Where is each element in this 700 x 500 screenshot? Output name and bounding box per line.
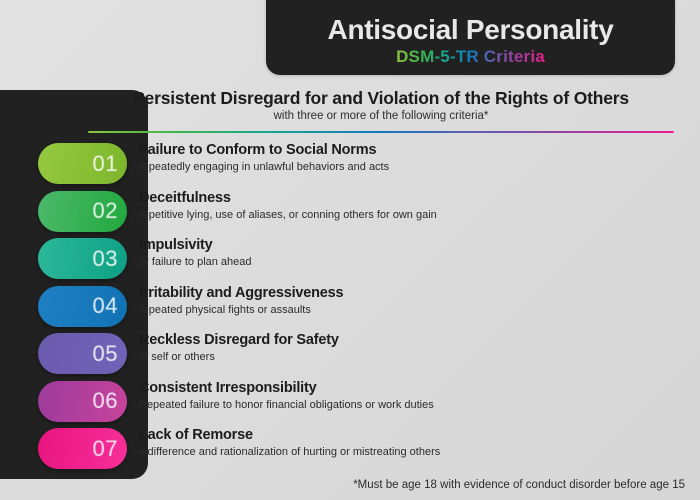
criterion-title: Failure to Conform to Social Norms (139, 141, 690, 159)
criterion-subtitle: repeatedly engaging in unlawful behavior… (139, 160, 690, 174)
criterion-number-pill: 01 (38, 143, 127, 184)
criterion-subtitle: of self or others (139, 350, 690, 364)
criterion-subtitle: or failure to plan ahead (139, 255, 690, 269)
page-title: Antisocial Personality (328, 15, 614, 44)
criterion-title: Lack of Remorse (139, 426, 690, 444)
criterion-text-block: Failure to Conform to Social Normsrepeat… (139, 141, 690, 174)
criterion-row: 06Consistent IrresponsibilityRepeated fa… (0, 379, 700, 427)
infographic-canvas: Antisocial Personality DSM-5-TR Criteria… (0, 0, 700, 500)
criterion-number-pill: 07 (38, 428, 127, 469)
criterion-number: 01 (93, 153, 118, 175)
criterion-number: 03 (93, 248, 118, 270)
criterion-number-pill: 05 (38, 333, 127, 374)
criterion-number-pill: 04 (38, 286, 127, 327)
criterion-title: Deceitfulness (139, 189, 690, 207)
criterion-subtitle: repetitive lying, use of aliases, or con… (139, 208, 690, 222)
criterion-row: 02Deceitfulnessrepetitive lying, use of … (0, 189, 700, 237)
criterion-text-block: Impulsivityor failure to plan ahead (139, 236, 690, 269)
header-subtitle: with three or more of the following crit… (88, 110, 674, 124)
criterion-number: 05 (93, 343, 118, 365)
criterion-text-block: Irritability and Aggressivenessrepeated … (139, 284, 690, 317)
criterion-text-block: Consistent IrresponsibilityRepeated fail… (139, 379, 690, 412)
gradient-divider (88, 131, 674, 133)
footnote: *Must be age 18 with evidence of conduct… (353, 479, 685, 491)
criterion-subtitle: Repeated failure to honor financial obli… (139, 398, 690, 412)
criterion-text-block: Reckless Disregard for Safetyof self or … (139, 331, 690, 364)
page-subtitle: DSM-5-TR Criteria (396, 47, 545, 67)
criterion-text-block: Deceitfulnessrepetitive lying, use of al… (139, 189, 690, 222)
criterion-number: 06 (93, 390, 118, 412)
criterion-title: Consistent Irresponsibility (139, 379, 690, 397)
criterion-row: 01Failure to Conform to Social Normsrepe… (0, 141, 700, 189)
criterion-text-block: Lack of Remorseindifference and rational… (139, 426, 690, 459)
criteria-list: 01Failure to Conform to Social Normsrepe… (0, 141, 700, 474)
criterion-row: 05Reckless Disregard for Safetyof self o… (0, 331, 700, 379)
criterion-number-pill: 06 (38, 381, 127, 422)
criterion-title: Impulsivity (139, 236, 690, 254)
criterion-number: 04 (93, 295, 118, 317)
criterion-number: 02 (93, 200, 118, 222)
criterion-row: 03Impulsivityor failure to plan ahead (0, 236, 700, 284)
criterion-subtitle: indifference and rationalization of hurt… (139, 445, 690, 459)
header-block: Persistent Disregard for and Violation o… (88, 88, 674, 133)
criterion-subtitle: repeated physical fights or assaults (139, 303, 690, 317)
criterion-row: 04Irritability and Aggressivenessrepeate… (0, 284, 700, 332)
criterion-number-pill: 03 (38, 238, 127, 279)
header-title: Persistent Disregard for and Violation o… (88, 88, 674, 108)
criterion-title: Irritability and Aggressiveness (139, 284, 690, 302)
criterion-number-pill: 02 (38, 191, 127, 232)
criterion-number: 07 (93, 438, 118, 460)
criterion-row: 07Lack of Remorseindifference and ration… (0, 426, 700, 474)
title-panel: Antisocial Personality DSM-5-TR Criteria (266, 0, 675, 75)
criterion-title: Reckless Disregard for Safety (139, 331, 690, 349)
